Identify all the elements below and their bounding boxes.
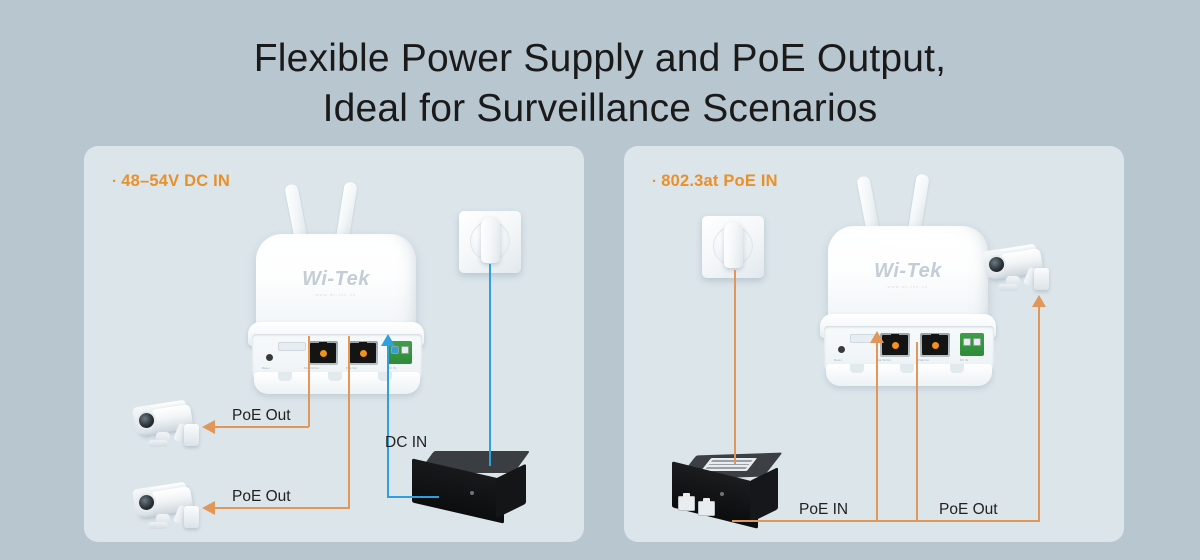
title-line-1: Flexible Power Supply and PoE Output, bbox=[254, 37, 946, 80]
port-label-terminal: DC IN bbox=[388, 367, 396, 370]
title-line-2: Ideal for Surveillance Scenarios bbox=[0, 84, 1200, 134]
brand-logo: Wi-Tek www.wi-tek.cn bbox=[828, 260, 988, 289]
label-poe-in: PoE IN bbox=[799, 501, 848, 519]
power-adapter-left bbox=[412, 451, 530, 525]
port-label-1: PoE IN/Out bbox=[304, 367, 319, 370]
arrowhead-poe-out-right bbox=[1032, 295, 1046, 307]
wire-poe-out-vertical-b bbox=[1038, 306, 1040, 522]
rj45-port-1[interactable] bbox=[308, 341, 338, 365]
injector-rj45-in[interactable] bbox=[678, 496, 695, 511]
bullet-icon: · bbox=[652, 173, 657, 190]
label-poe-out-bottom: PoE Out bbox=[232, 488, 291, 506]
wire-poe-out-bottom-horizontal bbox=[215, 507, 350, 509]
wire-poe-out-bottom-vertical bbox=[348, 336, 350, 509]
wire-poe-out-vertical-a bbox=[916, 342, 918, 522]
panel-label-dc-in: ·48–54V DC IN bbox=[112, 172, 230, 191]
wire-poe-out-top-horizontal bbox=[215, 426, 309, 428]
port-label-2: PoE Out bbox=[918, 359, 929, 362]
poe-injector bbox=[672, 452, 784, 528]
ap-foot bbox=[826, 364, 992, 386]
arrowhead-poe-out-bottom bbox=[202, 501, 215, 515]
rj45-port-2[interactable] bbox=[920, 333, 950, 357]
reset-button-icon[interactable] bbox=[266, 354, 273, 361]
wire-mains-right bbox=[734, 270, 736, 464]
brand-name: Wi-Tek bbox=[874, 260, 942, 282]
arrowhead-poe-out-top bbox=[202, 420, 215, 434]
arrowhead-poe-in bbox=[870, 331, 884, 343]
rj45-port-2[interactable] bbox=[348, 341, 378, 365]
wire-poe-in-horizontal bbox=[732, 520, 930, 522]
wire-dc-in-horizontal bbox=[387, 496, 439, 498]
panel-label-text: 48–54V DC IN bbox=[121, 172, 230, 190]
panel-label-text: 802.3at PoE IN bbox=[661, 172, 778, 190]
brand-logo: Wi-Tek www.wi-tek.cn bbox=[256, 268, 416, 297]
label-poe-out-top: PoE Out bbox=[232, 407, 291, 425]
wall-socket-right bbox=[702, 216, 764, 278]
label-dc-in: DC IN bbox=[385, 434, 427, 452]
panel-poe-in: ·802.3at PoE IN Wi-Tek www.wi-tek.cn bbox=[624, 146, 1124, 542]
wire-poe-out-horizontal bbox=[916, 520, 1040, 522]
port-label-terminal: DC IN bbox=[960, 359, 968, 362]
port-label-reset: Reset bbox=[262, 367, 270, 370]
label-poe-out-right: PoE Out bbox=[939, 501, 998, 519]
panel-label-poe-in: ·802.3at PoE IN bbox=[652, 172, 778, 191]
reset-button-icon[interactable] bbox=[838, 346, 845, 353]
page-title: Flexible Power Supply and PoE Output, Id… bbox=[0, 34, 1200, 134]
wire-dc-in-vertical bbox=[387, 344, 389, 498]
rj45-port-1[interactable] bbox=[880, 333, 910, 357]
cctv-camera-bottom bbox=[126, 484, 212, 536]
power-plug-icon bbox=[724, 222, 743, 268]
brand-name: Wi-Tek bbox=[302, 268, 370, 290]
injector-led-icon bbox=[720, 492, 724, 496]
injector-rj45-out[interactable] bbox=[698, 501, 715, 516]
power-plug-icon bbox=[481, 217, 500, 263]
panel-dc-in: ·48–54V DC IN Wi-Tek www.wi-tek.cn bbox=[84, 146, 584, 542]
ap-foot bbox=[254, 372, 420, 394]
dc-terminal-block[interactable] bbox=[960, 333, 984, 356]
port-label-1: PoE IN/Out bbox=[876, 359, 891, 362]
slide-canvas: Flexible Power Supply and PoE Output, Id… bbox=[0, 0, 1200, 560]
brand-sub: www.wi-tek.cn bbox=[256, 292, 416, 297]
cctv-camera-right bbox=[976, 246, 1062, 298]
wire-mains-left bbox=[489, 264, 491, 466]
bullet-icon: · bbox=[112, 173, 117, 190]
port-label-reset: Reset bbox=[834, 359, 842, 362]
cctv-camera-top bbox=[126, 402, 212, 454]
brand-sub: www.wi-tek.cn bbox=[828, 284, 988, 289]
card-slot-icon bbox=[278, 342, 306, 351]
access-point-left: Wi-Tek www.wi-tek.cn Reset PoE IN/Out Po… bbox=[248, 182, 438, 397]
wire-poe-out-top-vertical bbox=[308, 336, 310, 427]
wire-poe-in-vertical bbox=[876, 342, 878, 522]
